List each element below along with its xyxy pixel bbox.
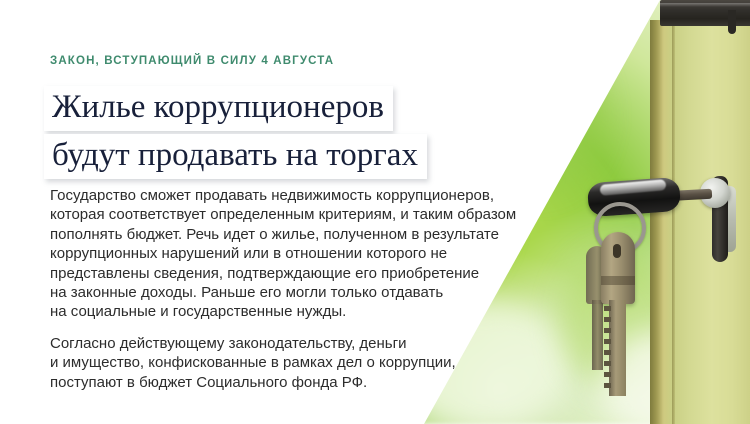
body-line: поступают в бюджет Социального фонда РФ.	[50, 373, 500, 392]
body-line: коррупционных нарушений или в отношении …	[50, 244, 500, 263]
headline-line-1: Жилье коррупционеров	[44, 86, 393, 131]
news-info-card: ЗАКОН, ВСТУПАЮЩИЙ В СИЛУ 4 АВГУСТА Жилье…	[0, 0, 750, 424]
body-line: на социальные и государственные нужды.	[50, 302, 500, 321]
card-content: ЗАКОН, ВСТУПАЮЩИЙ В СИЛУ 4 АВГУСТА Жилье…	[0, 0, 750, 424]
body-line: которая соответствует определенным крите…	[50, 205, 500, 224]
eyebrow-label: ЗАКОН, ВСТУПАЮЩИЙ В СИЛУ 4 АВГУСТА	[50, 55, 334, 67]
body-copy: Государство сможет продавать недвижимост…	[50, 186, 500, 392]
body-line: и имущество, конфискованные в рамках дел…	[50, 353, 500, 372]
paragraph-1: Государство сможет продавать недвижимост…	[50, 186, 500, 322]
body-line: Государство сможет продавать недвижимост…	[50, 186, 500, 205]
page-title: Жилье коррупционеров будут продавать на …	[44, 86, 514, 182]
body-line: Согласно действующему законодательству, …	[50, 334, 500, 353]
body-line: представлены сведения, подтверждающие ег…	[50, 264, 500, 283]
headline-line-2: будут продавать на торгах	[44, 134, 427, 179]
body-line: пополнять бюджет. Речь идет о жилье, пол…	[50, 225, 500, 244]
body-line: на законные доходы. Раньше его могли тол…	[50, 283, 500, 302]
paragraph-2: Согласно действующему законодательству, …	[50, 334, 500, 392]
